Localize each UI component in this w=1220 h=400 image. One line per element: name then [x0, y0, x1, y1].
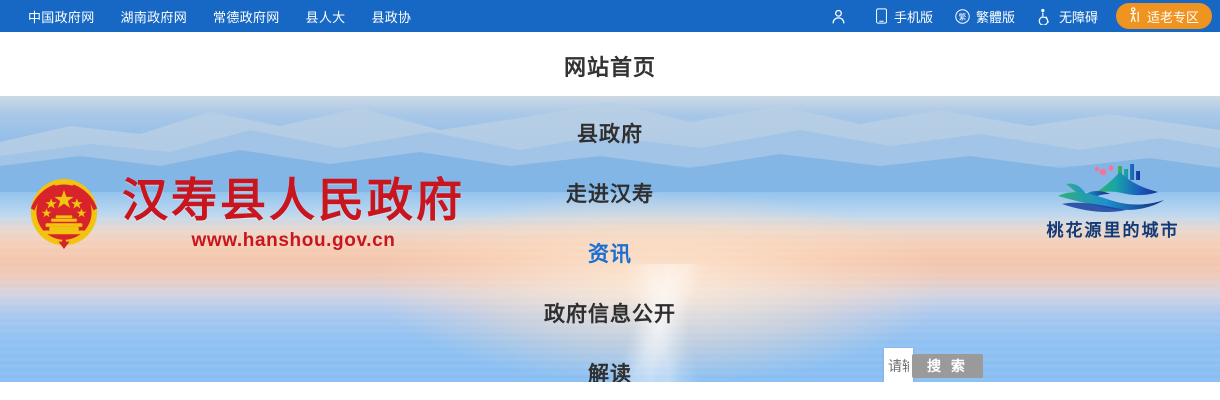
topbar-link-china-gov[interactable]: 中国政府网	[28, 7, 95, 26]
accessibility-icon	[1037, 8, 1053, 25]
nav-item-news[interactable]: 资讯	[0, 238, 1220, 268]
traditional-chinese-icon: 繁	[955, 9, 970, 24]
hero-banner: 汉寿县人民政府 www.hanshou.gov.cn	[0, 96, 1220, 382]
traditional-chinese-label: 繁體版	[976, 7, 1015, 26]
topbar-link-hunan-gov[interactable]: 湖南政府网	[121, 7, 188, 26]
topbar-link-changde-gov[interactable]: 常德政府网	[213, 7, 280, 26]
nav-item-about-hanshou[interactable]: 走进汉寿	[0, 178, 1220, 208]
top-bar: 中国政府网 湖南政府网 常德政府网 县人大 县政协 手机版	[0, 0, 1220, 32]
search-input[interactable]	[884, 348, 913, 382]
topbar-link-county-cppcc[interactable]: 县政协	[371, 7, 411, 26]
nav-item-interpretation[interactable]: 解读	[0, 358, 1220, 382]
top-bar-tools: 手机版 繁 繁體版 无障碍	[820, 0, 1212, 32]
title-strip: 网站首页	[0, 32, 1220, 96]
elder-zone-label: 适老专区	[1147, 7, 1199, 26]
elder-zone-button[interactable]: 适老专区	[1116, 3, 1212, 29]
svg-text:繁: 繁	[959, 11, 967, 21]
mobile-icon	[875, 8, 888, 24]
topbar-link-county-peoples-congress[interactable]: 县人大	[306, 7, 346, 26]
traditional-chinese-button[interactable]: 繁 繁體版	[955, 7, 1015, 26]
user-login-button[interactable]	[830, 8, 853, 25]
user-icon	[830, 8, 847, 25]
elderly-person-icon	[1127, 7, 1142, 26]
accessibility-button[interactable]: 无障碍	[1037, 7, 1098, 26]
page-title: 网站首页	[0, 50, 1220, 82]
nav-item-county-government[interactable]: 县政府	[0, 118, 1220, 148]
mobile-version-button[interactable]: 手机版	[875, 7, 933, 26]
search-button[interactable]: 搜 索	[912, 354, 983, 378]
page-body-area	[0, 382, 1220, 400]
mobile-version-label: 手机版	[894, 7, 933, 26]
nav-item-government-info-disclosure[interactable]: 政府信息公开	[0, 298, 1220, 328]
accessibility-label: 无障碍	[1059, 7, 1098, 26]
top-bar-links: 中国政府网 湖南政府网 常德政府网 县人大 县政协	[28, 7, 437, 26]
